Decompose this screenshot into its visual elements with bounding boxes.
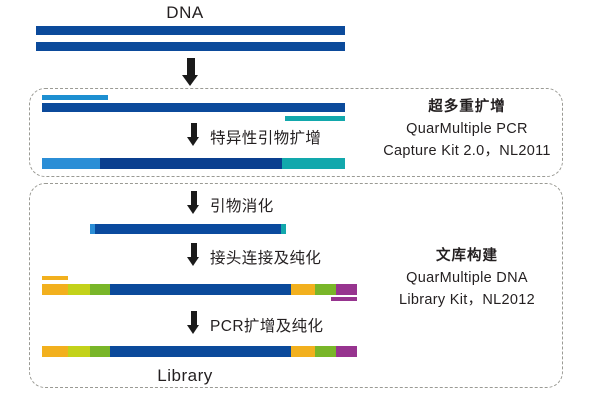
kit-title-amplification: 超多重扩增 — [372, 96, 562, 118]
arrow-adapter-ligation-purification — [187, 243, 200, 267]
adapter-right-magenta — [331, 297, 357, 301]
library-segment-index-right — [315, 346, 336, 357]
dna-strand-top — [36, 26, 345, 35]
template-strand — [42, 103, 345, 112]
arrow-pcr-amplification-purification — [187, 311, 200, 335]
library-segment-primer-right — [291, 346, 315, 357]
ligated-strand — [42, 284, 357, 295]
diagram-canvas: DNA 特异性引物扩增 超多重扩增 QuarMultiple PCR Captu… — [0, 0, 600, 408]
kit-info-amplification: 超多重扩增 QuarMultiple PCR Capture Kit 2.0，N… — [372, 96, 562, 162]
ligated-segment-index-right — [315, 284, 336, 295]
digested-segment-middle — [95, 224, 281, 234]
step-label-pcr-amplification-purification: PCR扩增及纯化 — [210, 314, 323, 336]
ligated-segment-adapter-right — [336, 284, 357, 295]
arrow-primer-digestion — [187, 191, 200, 215]
library-segment-adapter-left — [42, 346, 68, 357]
kit-info-library-construction: 文库构建 QuarMultiple DNA Library Kit，NL2012 — [372, 245, 562, 311]
kit-line2-library-construction: Library Kit，NL2012 — [372, 289, 562, 311]
library-segment-index-left — [68, 346, 90, 357]
ligated-segment-primer-left — [90, 284, 110, 295]
library-strand — [42, 346, 357, 357]
ligated-segment-primer-right — [291, 284, 315, 295]
page-title-library: Library — [0, 366, 370, 386]
step-label-specific-primer-amplification: 特异性引物扩增 — [210, 126, 321, 148]
step-label-adapter-ligation-purification: 接头连接及纯化 — [210, 246, 321, 268]
primer-left-light-blue — [42, 95, 108, 100]
amplicon-segment-left — [42, 158, 100, 169]
adapter-left-orange — [42, 276, 68, 280]
amplicon-segment-middle — [100, 158, 282, 169]
kit-title-library-construction: 文库构建 — [372, 245, 562, 267]
amplicon-segment-right — [282, 158, 345, 169]
digested-segment-right-cap — [281, 224, 286, 234]
library-segment-adapter-right — [336, 346, 357, 357]
primer-right-teal — [285, 116, 345, 121]
dna-strand-bottom — [36, 42, 345, 51]
page-title-dna: DNA — [0, 3, 370, 23]
ligated-segment-index-left — [68, 284, 90, 295]
kit-line1-library-construction: QuarMultiple DNA — [372, 267, 562, 289]
step-label-primer-digestion: 引物消化 — [210, 194, 274, 216]
digested-strand — [90, 224, 286, 234]
ligated-segment-insert — [110, 284, 291, 295]
amplicon-strand — [42, 158, 345, 169]
library-segment-primer-left — [90, 346, 110, 357]
ligated-segment-adapter-left — [42, 284, 68, 295]
arrow-dna-to-amplification — [182, 58, 199, 86]
kit-line1-amplification: QuarMultiple PCR — [372, 118, 562, 140]
arrow-specific-primer-amplification — [187, 123, 200, 147]
library-segment-insert — [110, 346, 291, 357]
kit-line2-amplification: Capture Kit 2.0，NL2011 — [372, 140, 562, 162]
